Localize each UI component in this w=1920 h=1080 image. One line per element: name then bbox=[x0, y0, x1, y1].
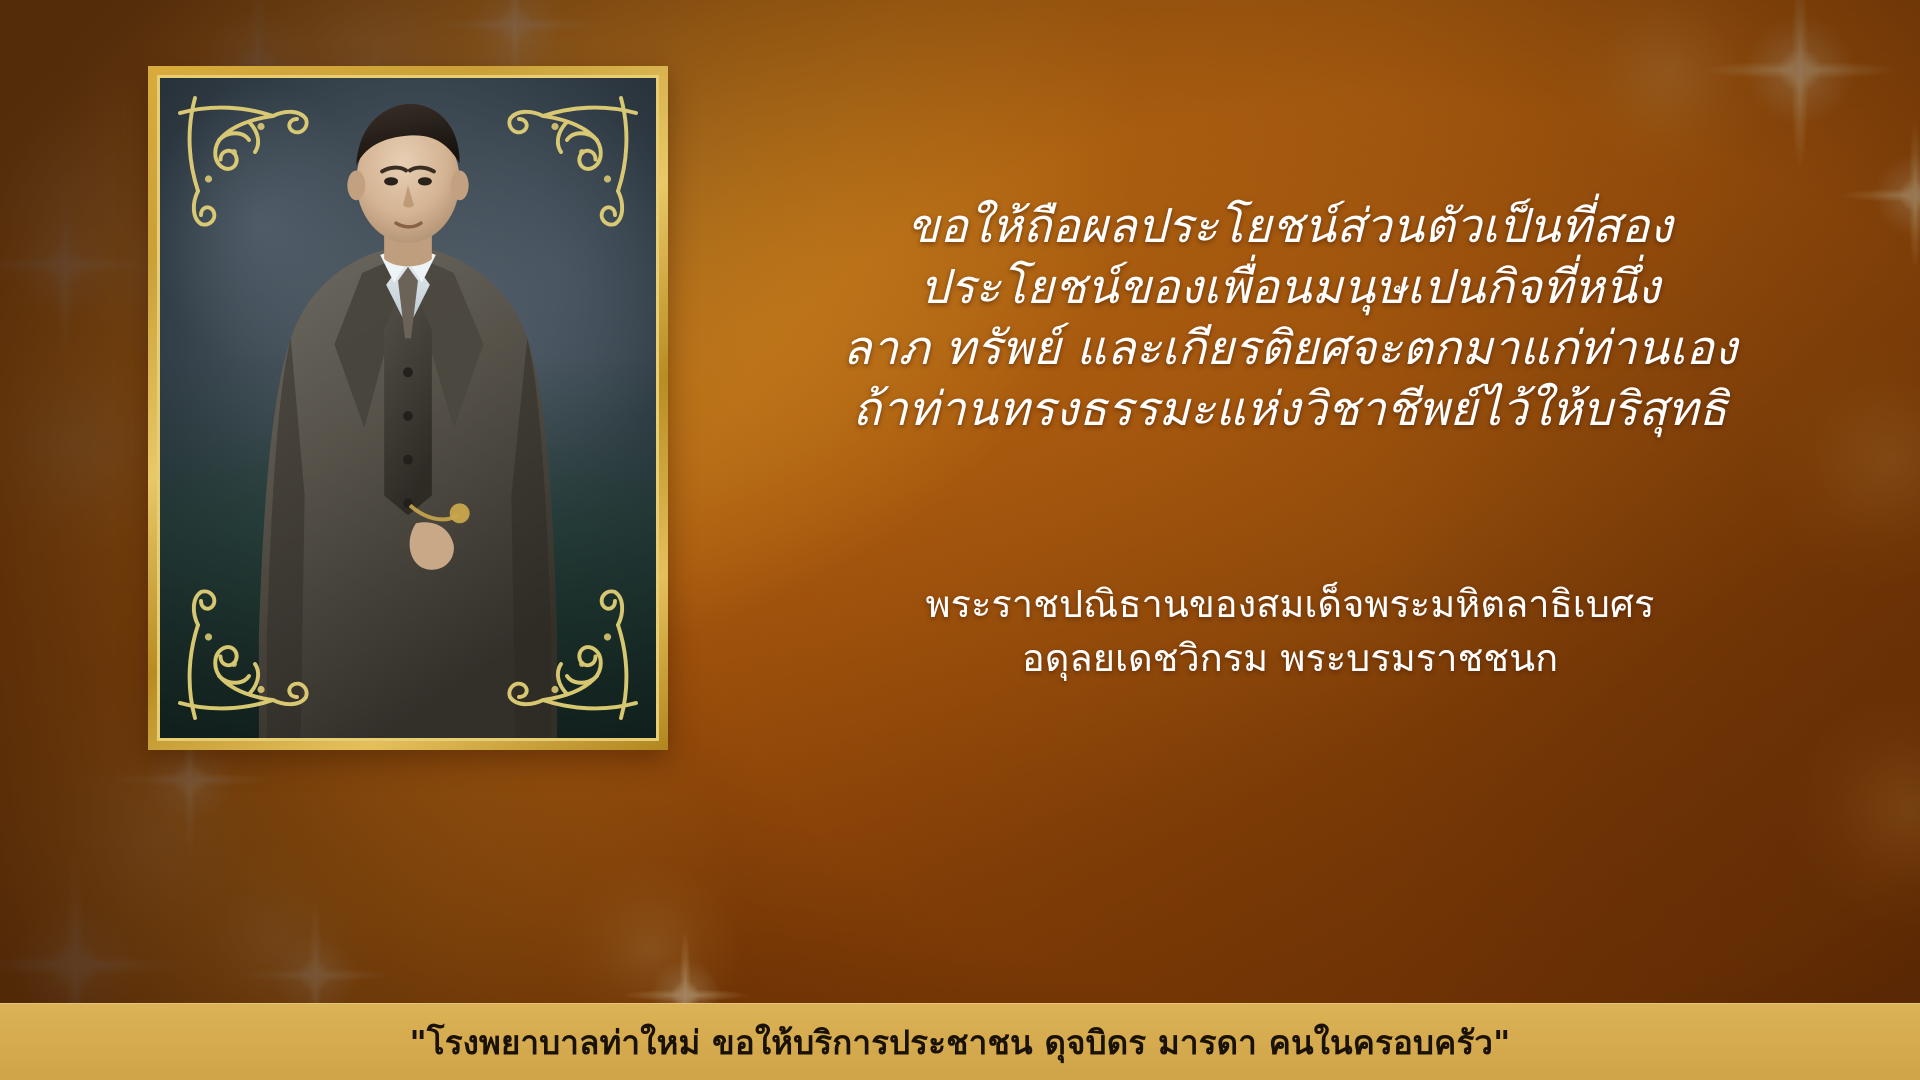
quote-line: ขอให้ถือผลประโยชน์ส่วนตัวเป็นที่สอง bbox=[700, 196, 1880, 257]
attribution-line: อดุลยเดชวิกรม พระบรมราชชนก bbox=[700, 632, 1880, 686]
attribution-line: พระราชปณิธานของสมเด็จพระมหิตลาธิเบศร bbox=[700, 578, 1880, 632]
slide-canvas: ขอให้ถือผลประโยชน์ส่วนตัวเป็นที่สอง ประโ… bbox=[0, 0, 1920, 1080]
corner-ornament-icon bbox=[498, 580, 648, 730]
quote-block: ขอให้ถือผลประโยชน์ส่วนตัวเป็นที่สอง ประโ… bbox=[700, 196, 1880, 440]
banner-text: "โรงพยาบาลท่าใหม่ ขอให้บริการประชาชน ดุจ… bbox=[410, 1016, 1511, 1069]
bottom-banner: "โรงพยาบาลท่าใหม่ ขอให้บริการประชาชน ดุจ… bbox=[0, 1003, 1920, 1080]
quote-line: ประโยชน์ของเพื่อนมนุษเปนกิจที่หนึ่ง bbox=[700, 257, 1880, 318]
corner-ornament-icon bbox=[498, 86, 648, 236]
quote-line: ลาภ ทรัพย์ และเกียรติยศจะตกมาแก่ท่านเอง bbox=[700, 318, 1880, 379]
corner-ornament-icon bbox=[168, 86, 318, 236]
portrait-photo bbox=[157, 75, 659, 741]
quote-line: ถ้าท่านทรงธรรมะแห่งวิชาชีพย์ไว้ให้บริสุท… bbox=[700, 379, 1880, 440]
corner-ornament-icon bbox=[168, 580, 318, 730]
portrait-frame bbox=[148, 66, 668, 750]
attribution-block: พระราชปณิธานของสมเด็จพระมหิตลาธิเบศร อดุ… bbox=[700, 578, 1880, 686]
